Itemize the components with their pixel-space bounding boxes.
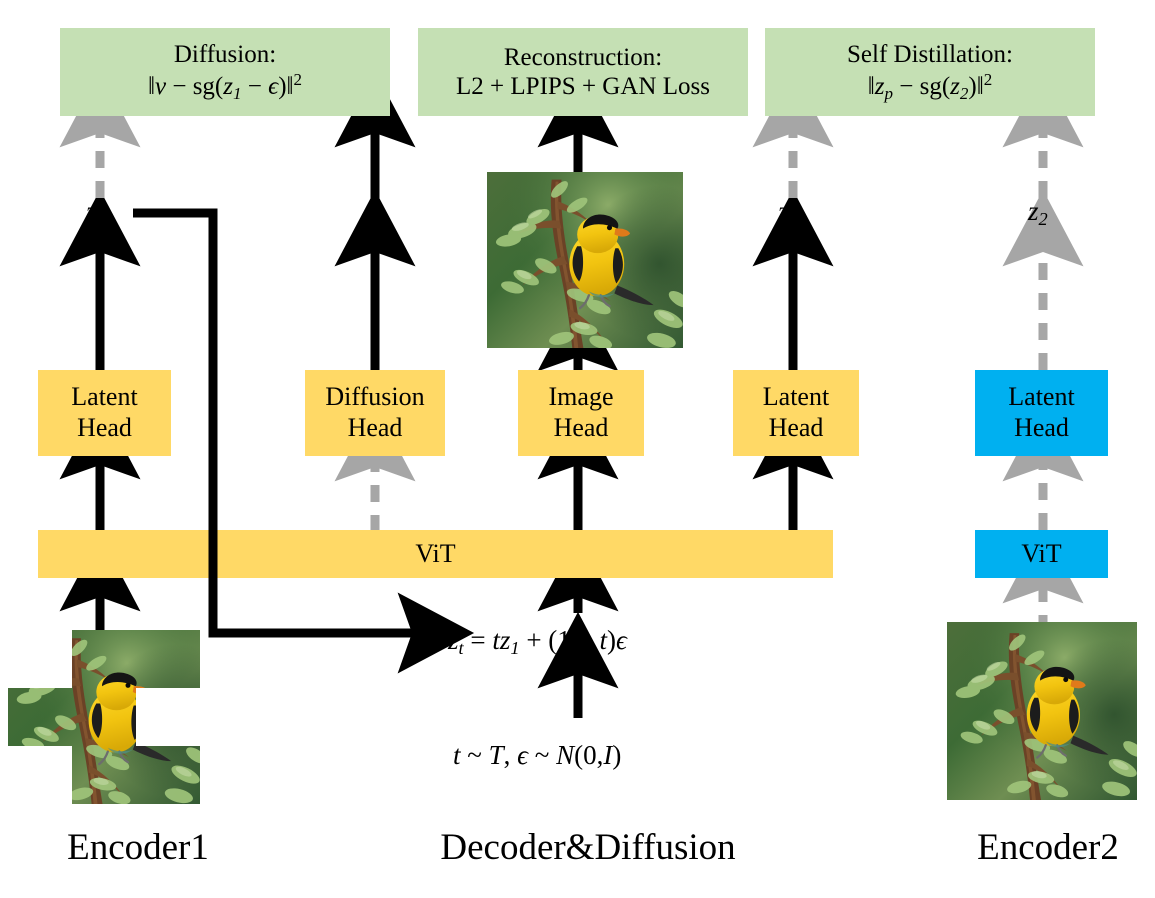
diffusion-loss-formula: ‖v − sg(z1 − ϵ)‖2 [148,70,302,104]
encoder1-latent-head-block[interactable]: Latent Head [38,370,171,456]
block-line-2: Head [348,413,403,444]
patch-1 [72,630,136,688]
masked-input-image [8,630,200,804]
block-line-2: Head [769,413,824,444]
block-line-1: Image [549,382,614,413]
caption-encoder1: Encoder1 [38,826,238,869]
interpolation-formula: zt = tz1 + (1 − t)ϵ [448,625,627,659]
patch-0 [8,630,72,688]
diffusion-loss-box: Diffusion: ‖v − sg(z1 − ϵ)‖2 [60,28,390,116]
self-distillation-loss-box: Self Distillation: ‖zp − sg(z2)‖2 [765,28,1095,116]
diffusion-head-block[interactable]: Diffusion Head [305,370,445,456]
block-line-1: Diffusion [325,382,424,413]
patch-2 [136,630,200,688]
patch-6 [8,746,72,804]
patch-7 [72,746,136,804]
patch-4 [72,688,136,746]
patch-5 [136,688,200,746]
label-zp: zp [778,196,798,230]
encoder2-vit-bar[interactable]: ViT [975,530,1108,578]
sampling-formula: t ~ T, ϵ ~ N(0,I) [453,740,621,771]
self-distillation-loss-formula: ‖zp − sg(z2)‖2 [868,70,993,104]
caption-encoder2: Encoder2 [948,826,1148,869]
reconstruction-loss-box: Reconstruction: L2 + LPIPS + GAN Loss [418,28,748,116]
diffusion-loss-title: Diffusion: [174,40,276,70]
patch-8 [136,746,200,804]
encoder2-latent-head-block[interactable]: Latent Head [975,370,1108,456]
patch-3 [8,688,72,746]
decoder-latent-head-block[interactable]: Latent Head [733,370,859,456]
block-line-2: Head [554,413,609,444]
block-line-1: Latent [71,382,137,413]
architecture-diagram: Diffusion: ‖v − sg(z1 − ϵ)‖2 Reconstruct… [0,0,1155,898]
block-line-1: Latent [763,382,829,413]
block-line-1: Latent [1008,382,1074,413]
reconstruction-loss-formula: L2 + LPIPS + GAN Loss [456,72,710,102]
label-v: v [366,196,378,227]
block-line-2: Head [77,413,132,444]
encoder1-vit-bar[interactable]: ViT [38,530,833,578]
vit-label: ViT [1021,539,1061,570]
clean-input-image [947,622,1137,800]
label-z2: z2 [1028,196,1048,230]
block-line-2: Head [1014,413,1069,444]
reconstruction-loss-title: Reconstruction: [504,43,662,73]
self-distillation-loss-title: Self Distillation: [847,40,1013,70]
image-head-block[interactable]: Image Head [518,370,644,456]
vit-label: ViT [415,539,455,570]
caption-decoder-diffusion: Decoder&Diffusion [408,826,768,869]
label-z1: z1 [86,196,106,230]
reconstructed-output-image [487,172,683,348]
